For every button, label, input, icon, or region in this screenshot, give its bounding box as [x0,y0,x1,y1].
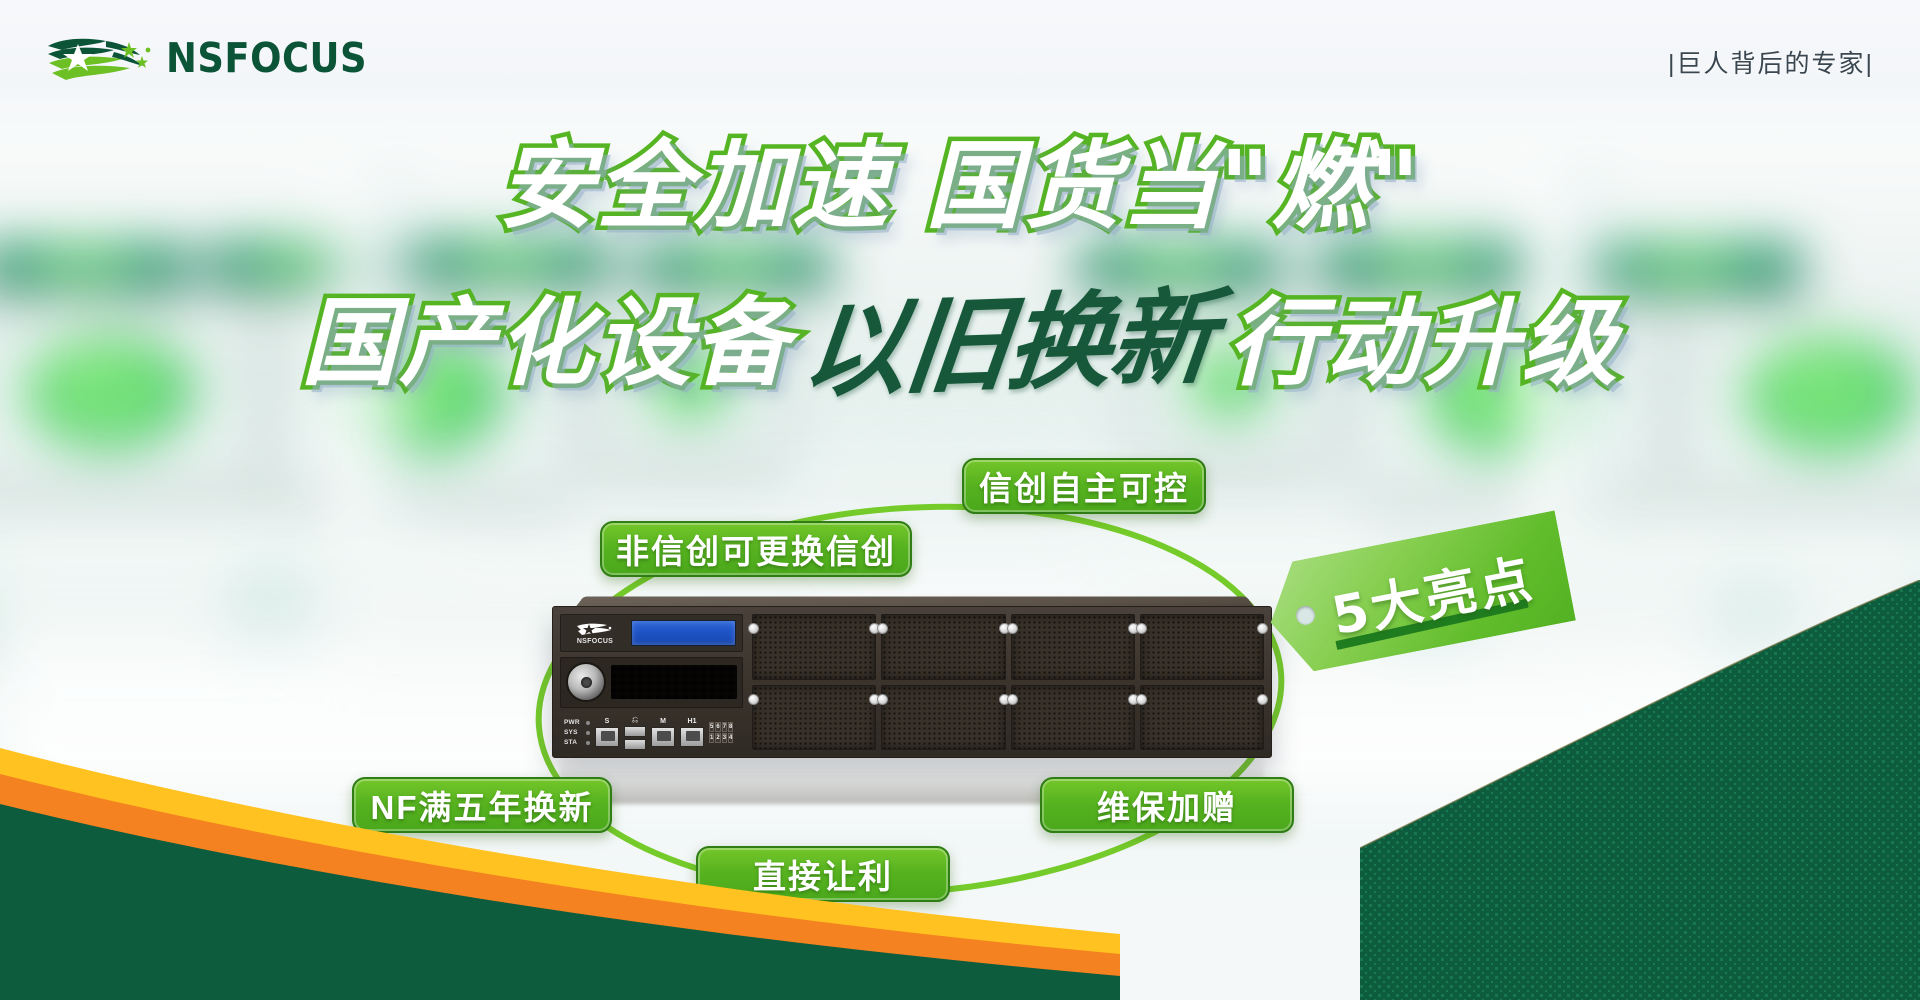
thumbscrew-icon [1007,623,1018,634]
server-drive-bay-module [560,657,743,708]
nsfocus-logo: NSFOCUS [44,32,367,84]
expansion-bay [1140,685,1264,751]
headline-line-1: 安全加速 国货当"燃" [0,108,1920,247]
expansion-bay [881,614,1005,680]
badge-non-xinchuang-replace[interactable]: 非信创可更换信创 [600,521,912,577]
server-flag-icon [575,621,615,637]
server-branding-row: NSFOCUS [560,614,743,652]
thumbscrew-icon [1007,694,1018,705]
thumbscrew-icon [877,623,888,634]
thumbscrew-icon [877,694,888,705]
banner-canvas: NSFOCUS |巨人背后的专家| 安全加速 国货当"燃" 国产化设备 以旧换新… [0,0,1920,1000]
thumbscrew-icon [1136,623,1147,634]
headline-line-2-suffix: 行动升级 [1227,265,1619,404]
nsfocus-flag-star-logo-icon [44,32,156,84]
server-vent-grille [611,665,737,699]
expansion-bay [1011,614,1135,680]
thumbscrew-icon [1257,694,1268,705]
bottom-right-wave [1360,580,1920,1000]
expansion-bay [1140,614,1264,680]
headline-brush-calligraphy: 以旧换新 [788,252,1230,418]
brand-tagline: |巨人背后的专家| [1668,44,1874,80]
server-logo-text: NSFOCUS [577,638,613,645]
thumbscrew-icon [1257,623,1268,634]
thumbscrew-icon [748,694,759,705]
badge-xinchuang-autonomous[interactable]: 信创自主可控 [962,458,1206,514]
thumbscrew-icon [748,623,759,634]
server-nsfocus-logo: NSFOCUS [567,621,623,645]
server-lock-knob[interactable] [566,662,606,702]
bottom-left-wave [0,720,1120,1000]
headline-line-1-text: 安全加速 国货当"燃" [498,130,1421,242]
logo-wordmark: NSFOCUS [166,34,367,82]
headline-line-2: 国产化设备 以旧换新 行动升级 [0,259,1920,410]
expansion-bay [752,614,876,680]
headline-line-2-prefix: 国产化设备 [301,265,791,404]
headline-block: 安全加速 国货当"燃" 国产化设备 以旧换新 行动升级 [0,108,1920,410]
server-lcd-display [631,620,736,646]
thumbscrew-icon [1136,694,1147,705]
